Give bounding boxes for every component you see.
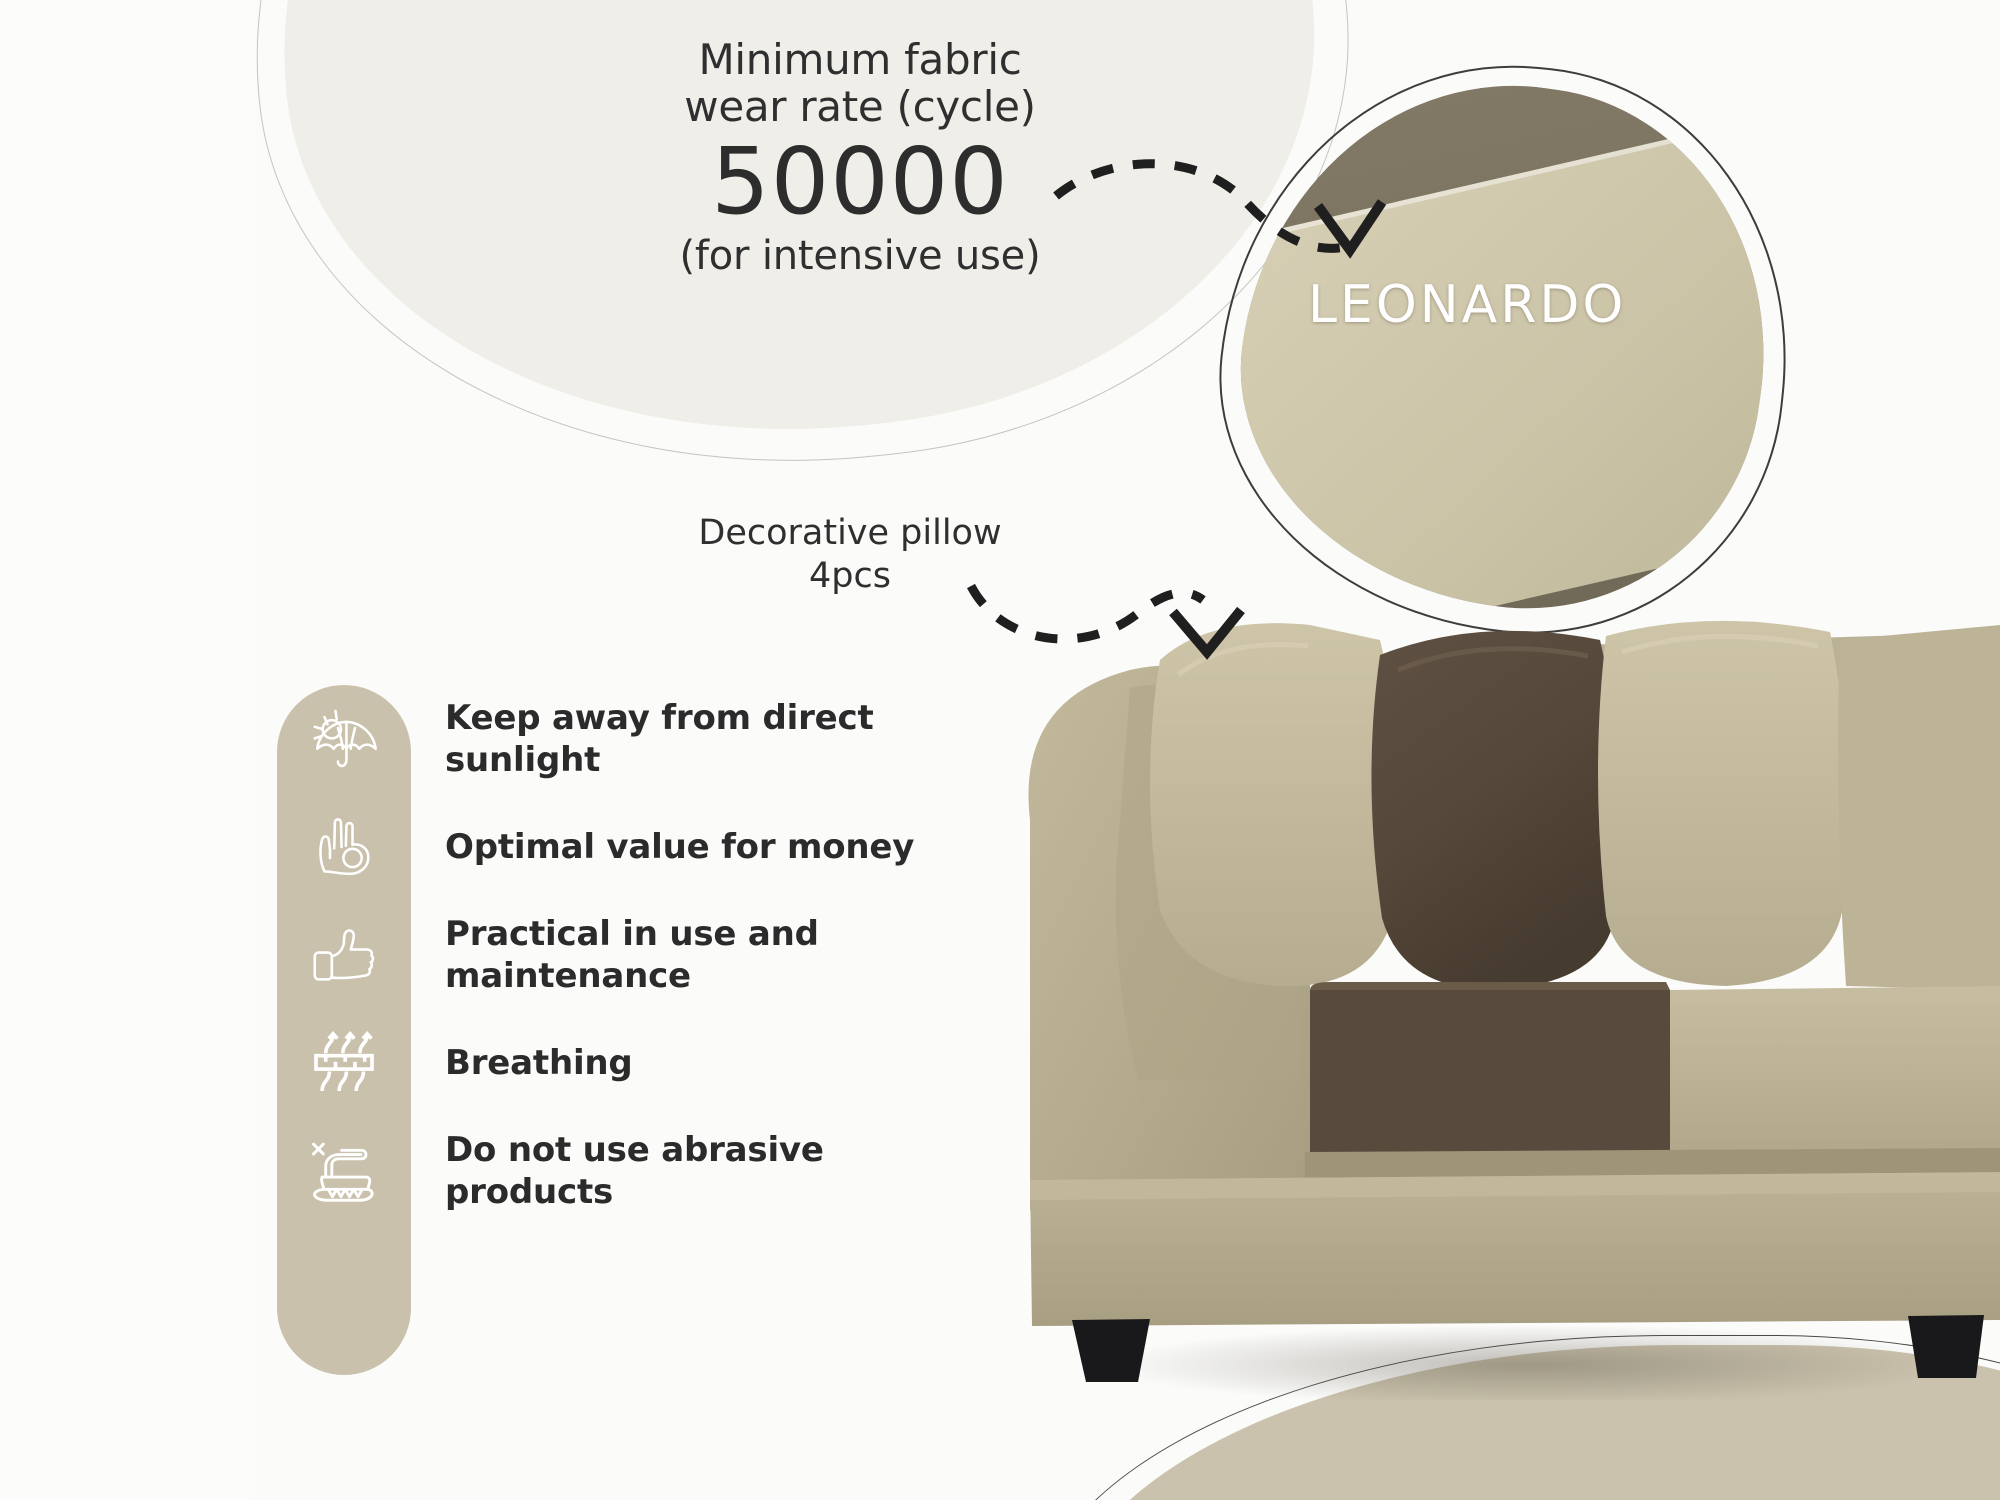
- feature-list: Keep away from direct sunlight Optimal v…: [277, 685, 1017, 1225]
- feature-row-practical: Practical in use and maintenance: [277, 901, 1017, 1009]
- product-name-label: LEONARDO: [1308, 275, 1626, 335]
- wear-rate-value: 50000: [600, 134, 1120, 231]
- feature-label-sunlight: Keep away from direct sunlight: [411, 697, 874, 782]
- feature-label-breathing: Breathing: [411, 1042, 633, 1085]
- feature-label-practical: Practical in use and maintenance: [411, 913, 819, 998]
- wear-rate-headline: Minimum fabric wear rate (cycle) 50000 (…: [600, 36, 1120, 279]
- feature-row-abrasive: Do not use abrasive products: [277, 1117, 1017, 1225]
- feature-row-breathing: Breathing: [277, 1009, 1017, 1117]
- left-white-panel: [0, 0, 250, 1500]
- airflow-icon: [277, 1024, 411, 1102]
- arrow-to-decorative-pillow: [965, 560, 1265, 690]
- umbrella-sun-icon: [277, 700, 411, 778]
- ok-hand-icon: [277, 808, 411, 886]
- infographic-canvas: LEONARDO Minimum fabric wear rate (cycle…: [0, 0, 2000, 1500]
- no-abrasive-brush-icon: [277, 1132, 411, 1210]
- wear-rate-note: (for intensive use): [600, 233, 1120, 279]
- feature-label-abrasive: Do not use abrasive products: [411, 1129, 824, 1214]
- feature-row-sunlight: Keep away from direct sunlight: [277, 685, 1017, 793]
- feature-label-value: Optimal value for money: [411, 826, 914, 869]
- thumbs-up-icon: [277, 916, 411, 994]
- wear-rate-title: Minimum fabric wear rate (cycle): [600, 36, 1120, 130]
- feature-row-value: Optimal value for money: [277, 793, 1017, 901]
